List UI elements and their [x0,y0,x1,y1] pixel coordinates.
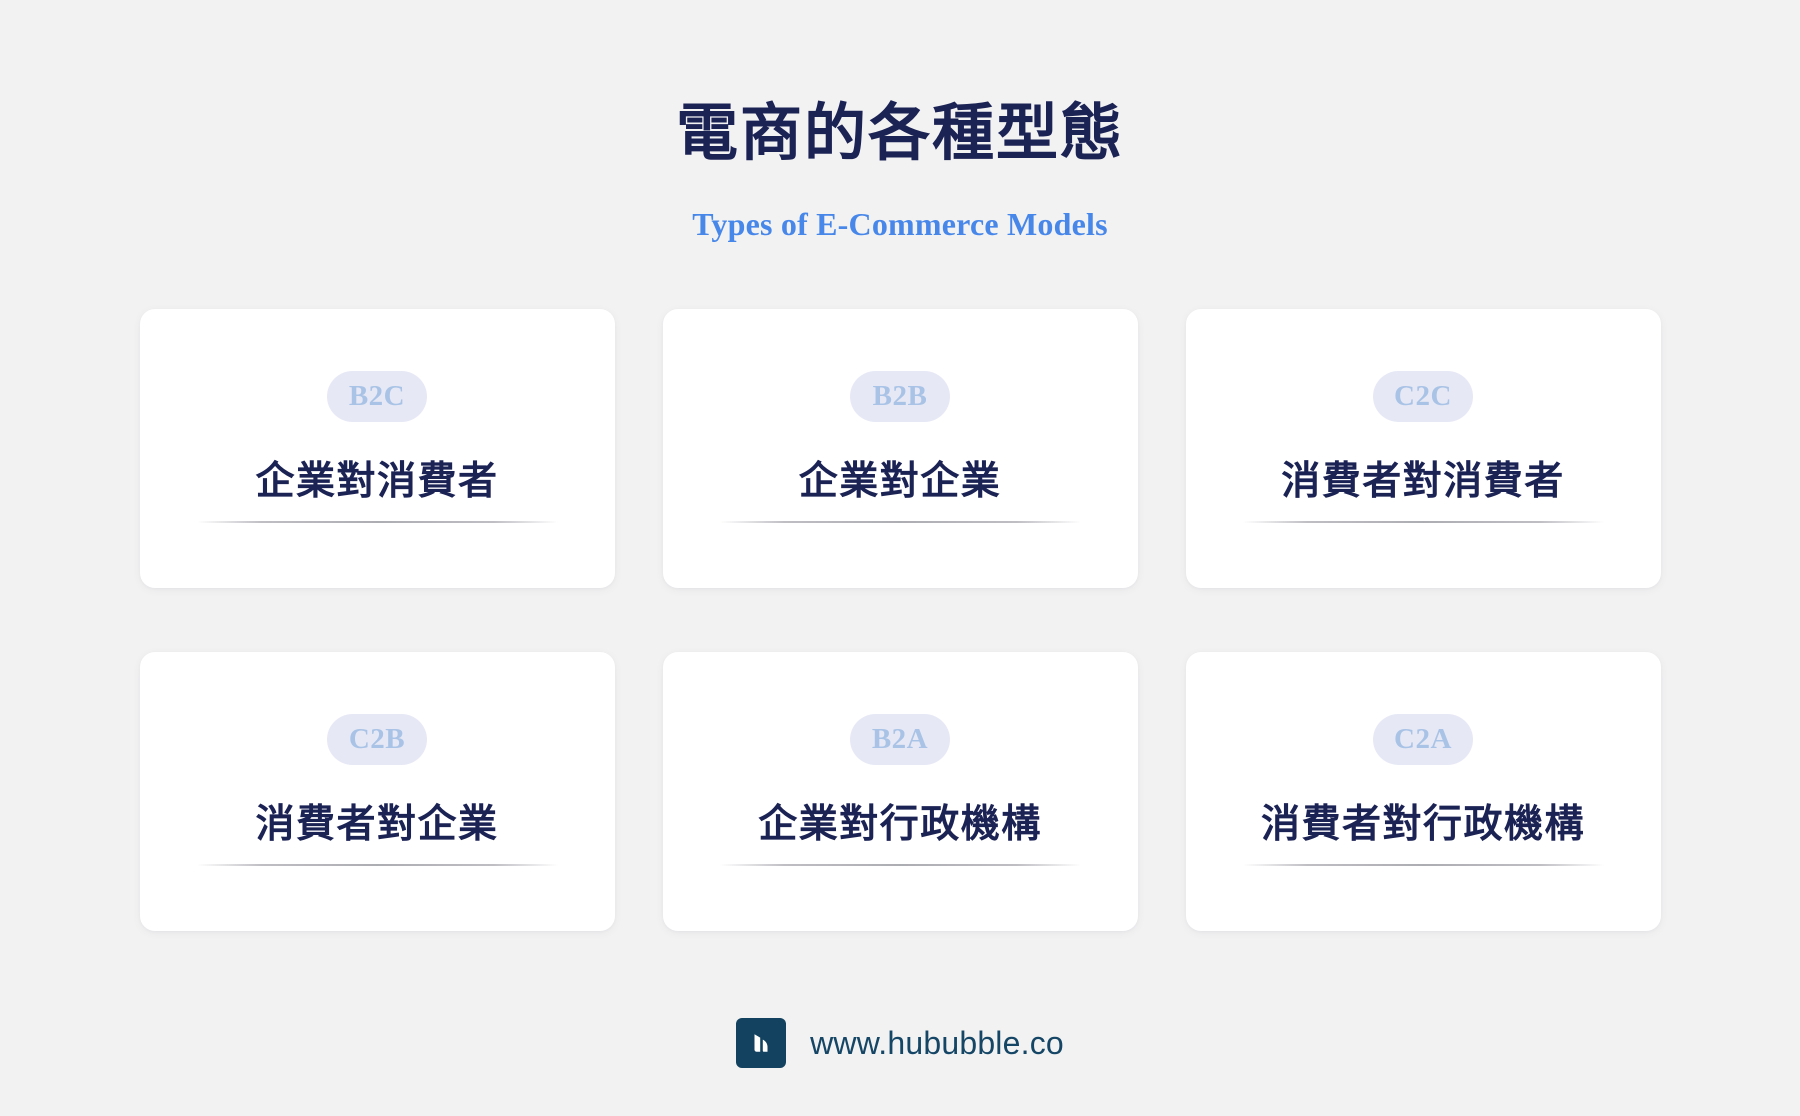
model-card-b2a: B2A 企業對行政機構 [663,652,1138,931]
page-subtitle: Types of E-Commerce Models [0,169,1800,243]
model-card-c2b: C2B 消費者對企業 [140,652,615,931]
model-badge: B2C [327,371,427,422]
model-card-b2b: B2B 企業對企業 [663,309,1138,588]
header: 電商的各種型態 Types of E-Commerce Models [0,0,1800,243]
model-title: 企業對行政機構 [758,803,1042,848]
model-badge: C2C [1373,371,1473,422]
card-divider [197,864,558,866]
model-title: 消費者對企業 [255,803,498,848]
hububble-logo-icon [736,1018,786,1068]
model-card-c2a: C2A 消費者對行政機構 [1186,652,1661,931]
card-divider [1243,864,1604,866]
model-card-b2c: B2C 企業對消費者 [140,309,615,588]
card-divider [720,521,1081,523]
footer-url[interactable]: www.hububble.co [810,1025,1064,1062]
model-title: 企業對消費者 [255,460,498,505]
card-divider [197,521,558,523]
model-card-c2c: C2C 消費者對消費者 [1186,309,1661,588]
model-title: 企業對企業 [799,460,1002,505]
page-title: 電商的各種型態 [0,98,1800,169]
model-title: 消費者對行政機構 [1261,803,1585,848]
model-title: 消費者對消費者 [1281,460,1565,505]
model-badge: C2A [1373,714,1473,765]
model-badge: B2B [850,371,950,422]
model-badge: B2A [850,714,950,765]
footer: www.hububble.co [0,1018,1800,1068]
infographic-page: 電商的各種型態 Types of E-Commerce Models B2C 企… [0,0,1800,1116]
card-divider [1243,521,1604,523]
model-badge: C2B [327,714,427,765]
ecommerce-model-grid: B2C 企業對消費者 B2B 企業對企業 C2C 消費者對消費者 C2B 消費者… [139,309,1661,931]
card-divider [720,864,1081,866]
